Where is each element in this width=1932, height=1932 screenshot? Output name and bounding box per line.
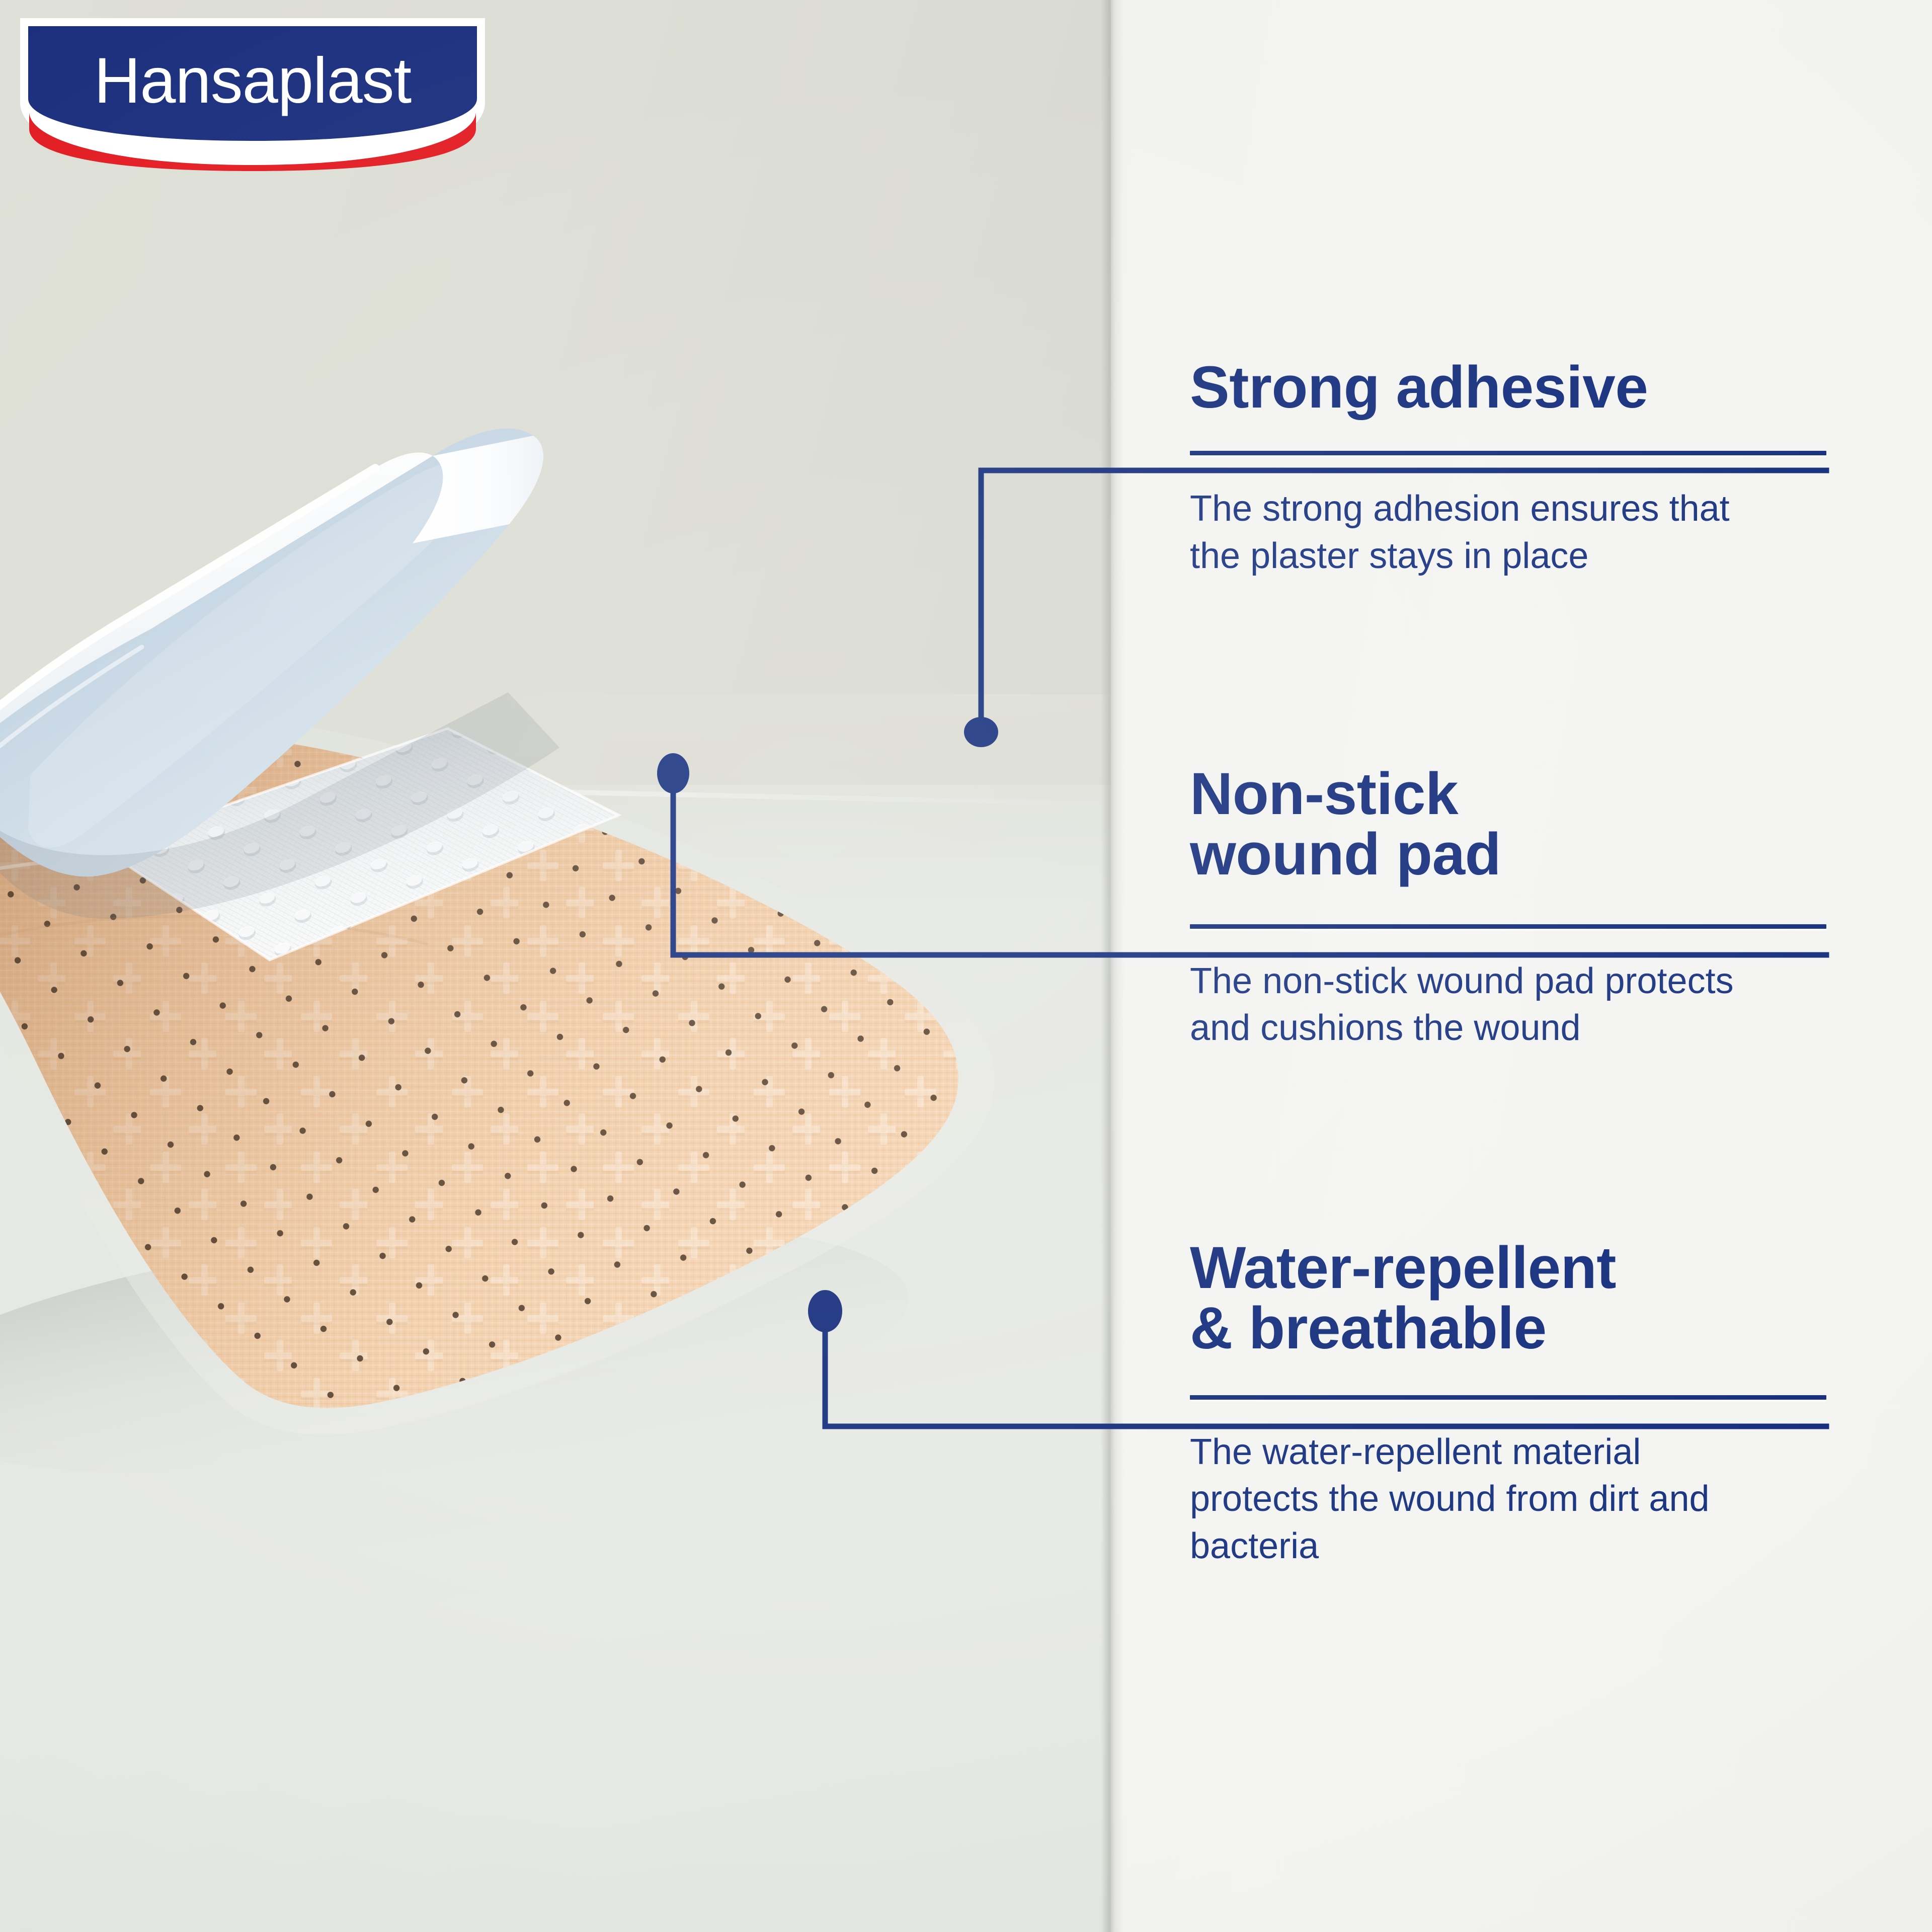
callout-body: The strong adhesion ensures that the pla… [1190,486,1829,580]
product-illustration [0,392,1132,1499]
callout-body: The non-stick wound pad protects and cus… [1190,958,1829,1052]
callout-title: Water-repellent & breathable [1190,1238,1829,1359]
infographic-canvas: Hansaplast Strong adhesive The strong ad… [0,0,1932,1932]
callout-water-repellent-breathable: Water-repellent & breathable The water-r… [1190,1238,1829,1570]
callout-body: The water-repellent material protects th… [1190,1429,1829,1570]
brand-logo: Hansaplast [16,14,489,175]
callout-divider [1190,924,1826,929]
logo-wordmark: Hansaplast [94,45,412,117]
callout-title: Strong adhesive [1190,357,1829,418]
callout-divider [1190,451,1826,455]
callout-title: Non-stick wound pad [1190,764,1829,885]
callout-strong-adhesive: Strong adhesive The strong adhesion ensu… [1190,357,1829,580]
callout-divider [1190,1395,1826,1400]
callout-non-stick-wound-pad: Non-stick wound pad The non-stick wound … [1190,764,1829,1052]
